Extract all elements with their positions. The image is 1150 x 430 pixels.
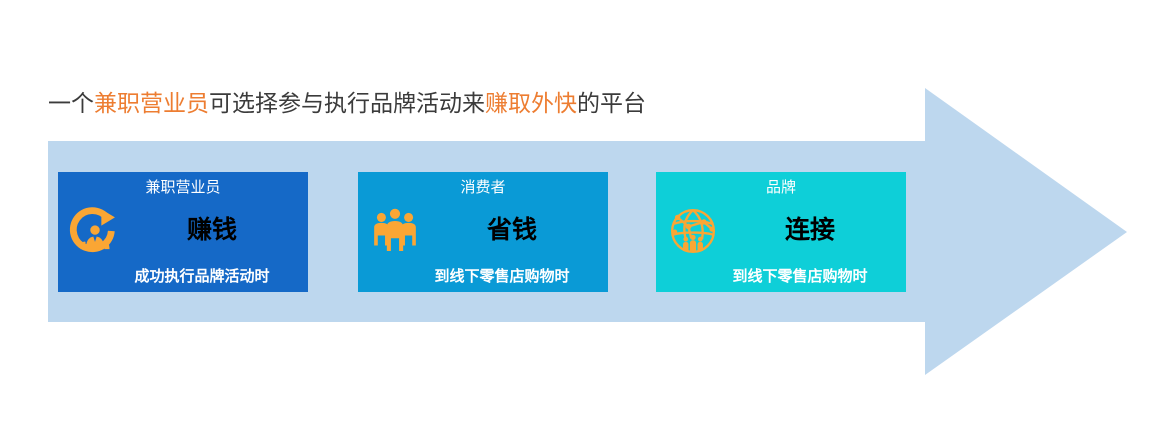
card-consumer-title: 消费者 [358, 178, 608, 198]
card-partner-title: 兼职营业员 [58, 178, 308, 198]
headline-part-3: 的平台 [577, 90, 646, 116]
headline-part-2: 可选择参与执行品牌活动来 [209, 90, 485, 116]
card-consumer[interactable]: 消费者 省钱 到线下零售店购物时 [358, 172, 608, 292]
slide-canvas: 一个兼职营业员可选择参与执行品牌活动来赚取外快的平台 兼职营业员 赚钱 成 [0, 0, 1150, 430]
page-title: 一个兼职营业员可选择参与执行品牌活动来赚取外快的平台 [48, 88, 646, 118]
card-brand-main: 连接 [714, 214, 906, 246]
card-partner-footer: 成功执行品牌活动时 [96, 267, 308, 287]
card-consumer-main: 省钱 [416, 214, 608, 246]
headline-part-1: 一个 [48, 90, 94, 116]
card-brand-footer: 到线下零售店购物时 [694, 267, 906, 287]
headline-accent-2: 赚取外快 [485, 90, 577, 116]
headline-accent-1: 兼职营业员 [94, 90, 209, 116]
card-partner[interactable]: 兼职营业员 赚钱 成功执行品牌活动时 [58, 172, 308, 292]
card-brand[interactable]: 品牌 [656, 172, 906, 292]
card-brand-title: 品牌 [656, 178, 906, 198]
card-partner-main: 赚钱 [116, 214, 308, 246]
card-consumer-footer: 到线下零售店购物时 [396, 267, 608, 287]
